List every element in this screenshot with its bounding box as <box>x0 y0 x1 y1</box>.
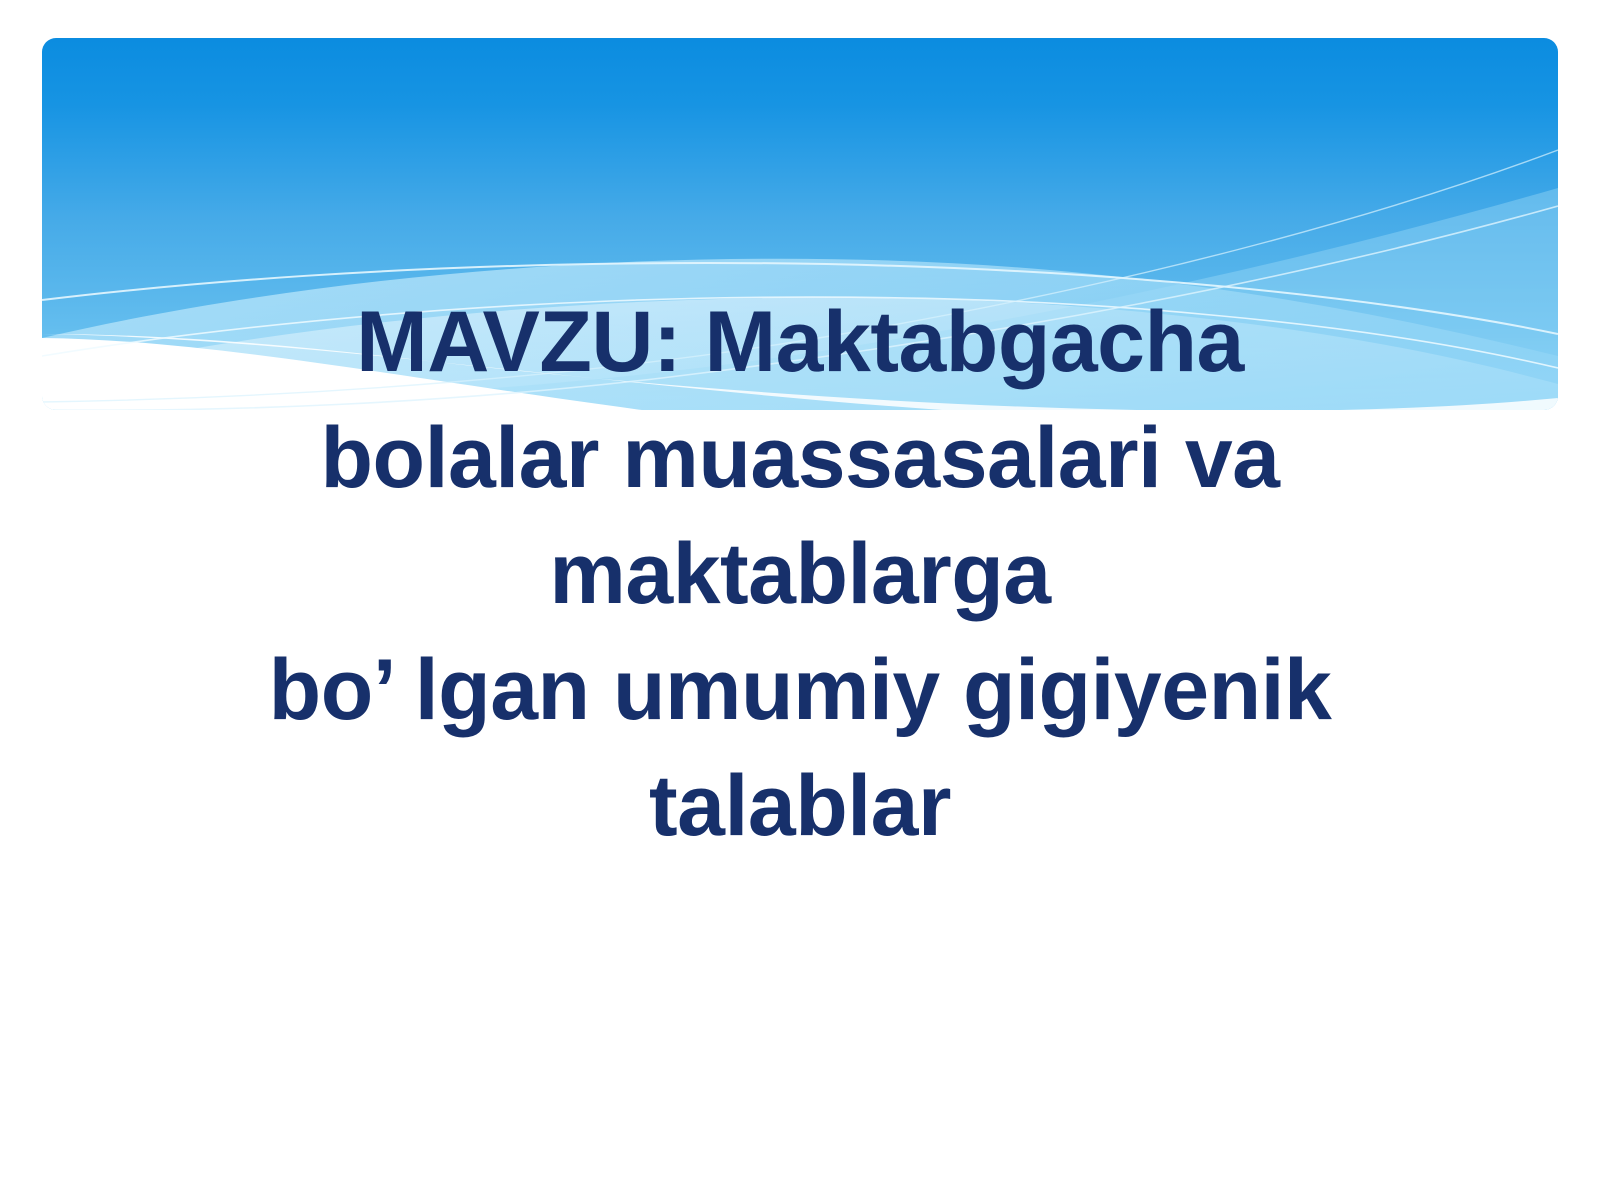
title-line-3: maktablarga <box>40 516 1560 632</box>
title-line-2: bolalar muassasalari va <box>40 400 1560 516</box>
title-line-1: MAVZU: Maktabgacha <box>40 284 1560 400</box>
presentation-slide: MAVZU: Maktabgacha bolalar muassasalari … <box>0 0 1600 1200</box>
title-line-4: bo’ lgan umumiy gigiyenik <box>40 632 1560 748</box>
title-line-5: talablar <box>40 748 1560 864</box>
slide-title: MAVZU: Maktabgacha bolalar muassasalari … <box>0 284 1600 864</box>
